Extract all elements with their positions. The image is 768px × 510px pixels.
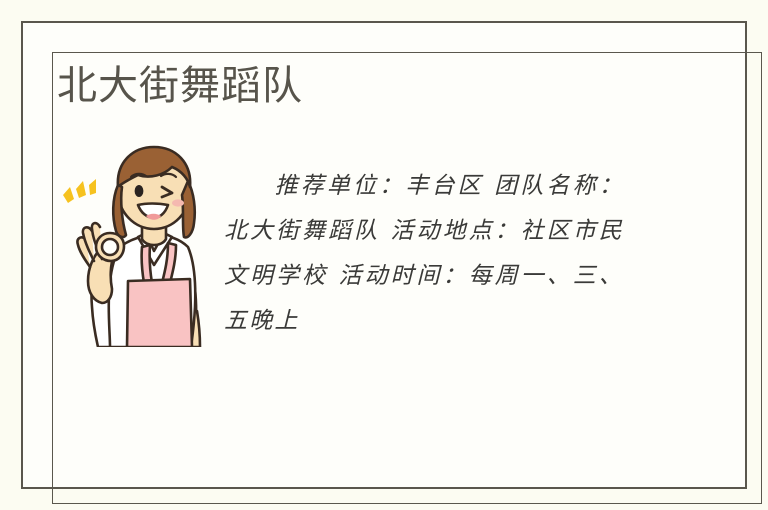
activity-info-paragraph: 推荐单位：丰台区 团队名称：北大街舞蹈队 活动地点：社区市民文明学校 活动时间：… bbox=[224, 164, 624, 344]
info-line-recommending-unit: 推荐单位：丰台区 bbox=[275, 173, 484, 199]
page-title: 北大街舞蹈队 bbox=[57, 62, 303, 110]
winking-woman-ok-gesture-illustration bbox=[58, 143, 216, 347]
poster-canvas: 北大街舞蹈队 bbox=[0, 0, 768, 510]
